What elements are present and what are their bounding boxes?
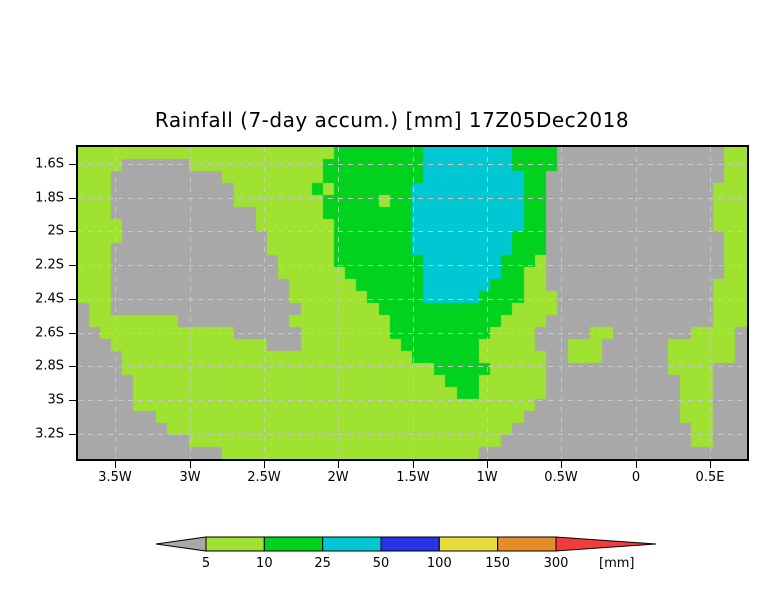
y-axis-tick-label: 2S bbox=[0, 224, 64, 239]
y-axis-tick-label: 3.2S bbox=[0, 427, 64, 442]
colorbar-units-label: [mm] bbox=[599, 556, 634, 571]
x-tick-mark bbox=[561, 461, 562, 468]
y-tick-mark bbox=[69, 265, 76, 266]
y-axis-tick-label: 2.2S bbox=[0, 258, 64, 273]
y-axis-tick-label: 2.6S bbox=[0, 326, 64, 341]
y-tick-mark bbox=[69, 231, 76, 232]
x-axis-tick-label: 3W bbox=[179, 470, 200, 485]
colorbar-tick-label: 5 bbox=[202, 556, 210, 571]
x-tick-mark bbox=[710, 461, 711, 468]
x-axis-tick-label: 0 bbox=[632, 470, 640, 485]
x-axis-tick-label: 0.5E bbox=[696, 470, 725, 485]
y-tick-mark bbox=[69, 198, 76, 199]
x-tick-mark bbox=[264, 461, 265, 468]
x-axis-tick-label: 0.5W bbox=[544, 470, 578, 485]
x-axis-tick-label: 2W bbox=[327, 470, 348, 485]
x-axis-tick-label: 2.5W bbox=[247, 470, 281, 485]
colorbar-band bbox=[439, 537, 497, 551]
x-axis-tick-label: 1.5W bbox=[396, 470, 430, 485]
y-tick-mark bbox=[69, 400, 76, 401]
colorbar: 5102550100150300 [mm] bbox=[156, 533, 656, 583]
colorbar-band bbox=[323, 537, 381, 551]
colorbar-over-arrow bbox=[556, 537, 656, 551]
plot-area bbox=[76, 145, 749, 461]
colorbar-tick-label: 300 bbox=[544, 556, 569, 571]
colorbar-tick-label: 150 bbox=[485, 556, 510, 571]
y-axis-tick-label: 1.8S bbox=[0, 191, 64, 206]
x-axis-tick-label: 1W bbox=[476, 470, 497, 485]
colorbar-tick-label: 25 bbox=[314, 556, 331, 571]
y-tick-mark bbox=[69, 366, 76, 367]
y-tick-mark bbox=[69, 333, 76, 334]
colorbar-tick-label: 10 bbox=[256, 556, 273, 571]
colorbar-tick-label: 100 bbox=[427, 556, 452, 571]
page-title: Rainfall (7-day accum.) [mm] 17Z05Dec201… bbox=[0, 108, 784, 132]
colorbar-gradient bbox=[156, 533, 656, 555]
colorbar-tick-label: 50 bbox=[373, 556, 390, 571]
x-tick-mark bbox=[487, 461, 488, 468]
x-tick-mark bbox=[636, 461, 637, 468]
y-tick-mark bbox=[69, 299, 76, 300]
y-tick-mark bbox=[69, 164, 76, 165]
x-tick-mark bbox=[115, 461, 116, 468]
rainfall-heatmap bbox=[78, 147, 747, 459]
x-axis-tick-label: 3.5W bbox=[98, 470, 132, 485]
colorbar-band bbox=[498, 537, 556, 551]
x-tick-mark bbox=[338, 461, 339, 468]
colorbar-band bbox=[206, 537, 264, 551]
x-tick-mark bbox=[190, 461, 191, 468]
y-axis-tick-label: 1.6S bbox=[0, 157, 64, 172]
colorbar-band bbox=[264, 537, 322, 551]
y-axis-tick-label: 2.4S bbox=[0, 292, 64, 307]
y-axis-tick-label: 2.8S bbox=[0, 359, 64, 374]
y-axis-tick-label: 3S bbox=[0, 393, 64, 408]
x-tick-mark bbox=[413, 461, 414, 468]
colorbar-band bbox=[381, 537, 439, 551]
colorbar-under-arrow bbox=[156, 537, 206, 551]
y-tick-mark bbox=[69, 434, 76, 435]
